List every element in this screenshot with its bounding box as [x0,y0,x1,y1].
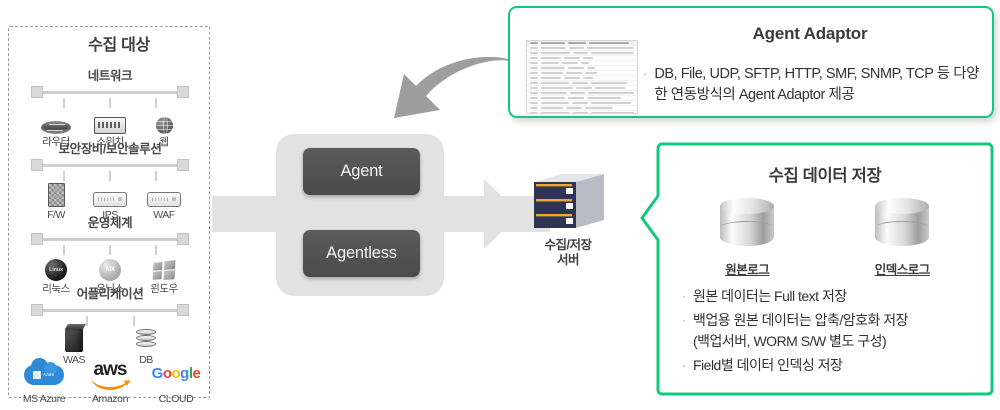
storage-panel-title: 수집 데이터 저장 [670,162,980,186]
cloud-google-label: CLOUD [159,393,194,405]
bus-cap-left [31,304,43,316]
agent-adaptor-panel: Agent Adaptor · DB, File, UDP, SFTP, HTT… [508,6,994,118]
group-application-drops [31,316,189,326]
storage-bullet-text: Field별 데이터 인덱싱 저장 [693,355,842,376]
server-label-line1: 수집/저장 [518,238,618,253]
aix-unix-icon: AIX [99,255,121,281]
cloud-providers-row: Azure MS Azure aws Amazon Google CLOUD [9,357,211,405]
bus-cap-left [31,159,43,171]
server-label-line2: 서버 [518,253,618,268]
storage-databases: 원본로그 인덱스로그 [670,198,980,278]
group-security-title: 보안장비/보안솔루션 [9,142,211,156]
bus-cap-right [177,159,189,171]
linux-badge: Linux [49,267,63,273]
windows-icon [153,255,175,281]
group-network-bus [31,86,189,98]
router-icon [41,108,71,134]
agent-button[interactable]: Agent [303,148,420,195]
ips-appliance-icon [93,181,127,207]
aws-swoosh-icon [91,377,129,390]
target-ips[interactable]: IPS [87,181,133,221]
storage-panel: 수집 데이터 저장 원본로그 인덱스로그 · 원본 데이터는 Full text… [640,140,994,398]
list-item: · 원본 데이터는 Full text 저장 [682,286,982,307]
group-application-bus [31,304,189,316]
cloud-ms-azure-label: MS Azure [23,393,65,405]
bus-line [39,309,181,312]
storage-bullet-text: 원본 데이터는 Full text 저장 [693,286,847,307]
waf-appliance-icon [147,181,181,207]
table-screenshot-thumbnail[interactable] [526,40,638,114]
list-item: · Field별 데이터 인덱싱 저장 [682,355,982,376]
database-index-log[interactable]: 인덱스로그 [875,198,930,278]
group-security-items: F/W IPS WAF [9,181,211,221]
firewall-icon [48,181,65,207]
cloud-amazon-label: Amazon [92,393,128,405]
database-icon [136,326,156,352]
ms-azure-logo: Azure [24,357,64,391]
group-security-drops [31,171,189,181]
bullet-marker: · [682,355,686,376]
group-security-bus [31,159,189,171]
group-os-bus [31,233,189,245]
switch-icon [94,108,126,134]
group-network: 네트워크 라우터 스위치 웹 [9,69,211,148]
agent-adaptor-bullet-text: DB, File, UDP, SFTP, HTTP, SMF, SNMP, TC… [654,64,985,106]
bus-line [39,164,181,167]
server-label: 수집/저장 서버 [518,238,618,268]
database-index-log-label: 인덱스로그 [875,259,930,278]
google-wordmark: Google [152,366,201,382]
group-network-title: 네트워크 [9,69,211,83]
group-network-drops [31,98,189,108]
group-application-title: 어플리케이션 [9,287,211,301]
bus-cap-right [177,304,189,316]
diagram-canvas: 수집 대상 네트워크 라우터 스위치 [0,0,1000,410]
azure-wordmark: Azure [43,372,54,377]
database-original-log[interactable]: 원본로그 [720,198,774,278]
aix-badge: AIX [105,267,114,273]
collection-targets-panel: 수집 대상 네트워크 라우터 스위치 [8,26,210,398]
bus-cap-left [31,233,43,245]
stacked-server-icon [528,168,610,234]
storage-bullet-list: · 원본 데이터는 Full text 저장 · 백업용 원본 데이터는 압축/… [682,286,982,379]
linux-icon: Linux [45,255,67,281]
target-firewall[interactable]: F/W [33,181,79,221]
bullet-marker: · [682,310,686,352]
flow-arrowhead-icon [484,179,520,249]
database-cylinder-icon [720,198,774,254]
storage-bullet-text: 백업용 원본 데이터는 압축/암호화 저장 (백업서버, WORM S/W 별도… [693,310,908,352]
bus-line [39,238,181,241]
list-item: · 백업용 원본 데이터는 압축/암호화 저장 (백업서버, WORM S/W … [682,310,982,352]
collection-targets-title: 수집 대상 [59,37,179,55]
agent-adaptor-bullet: · DB, File, UDP, SFTP, HTTP, SMF, SNMP, … [643,64,985,106]
agent-adaptor-title: Agent Adaptor [640,24,980,44]
bus-cap-right [177,233,189,245]
database-original-log-label: 원본로그 [725,259,769,278]
group-os-drops [31,245,189,255]
bullet-marker: · [643,64,647,106]
google-cloud-logo: Google [152,357,201,391]
curved-arrow-icon [382,52,527,147]
bus-cap-right [177,86,189,98]
group-os: 운영체계 Linux 리눅스 AIX 유닉스 [9,216,211,295]
was-server-icon [65,326,83,352]
database-cylinder-icon [875,198,929,254]
group-security: 보안장비/보안솔루션 F/W IPS WA [9,142,211,221]
group-application: 어플리케이션 WAS DB [9,287,211,366]
cloud-google[interactable]: Google CLOUD [147,357,205,405]
bullet-marker: · [682,286,686,307]
web-globe-icon [156,108,173,134]
cloud-amazon[interactable]: aws Amazon [81,357,139,405]
cloud-ms-azure[interactable]: Azure MS Azure [15,357,73,405]
bus-line [39,91,181,94]
group-os-title: 운영체계 [9,216,211,230]
bus-cap-left [31,86,43,98]
aws-logo: aws [83,357,137,391]
agentless-button[interactable]: Agentless [303,230,420,277]
target-waf[interactable]: WAF [141,181,187,221]
